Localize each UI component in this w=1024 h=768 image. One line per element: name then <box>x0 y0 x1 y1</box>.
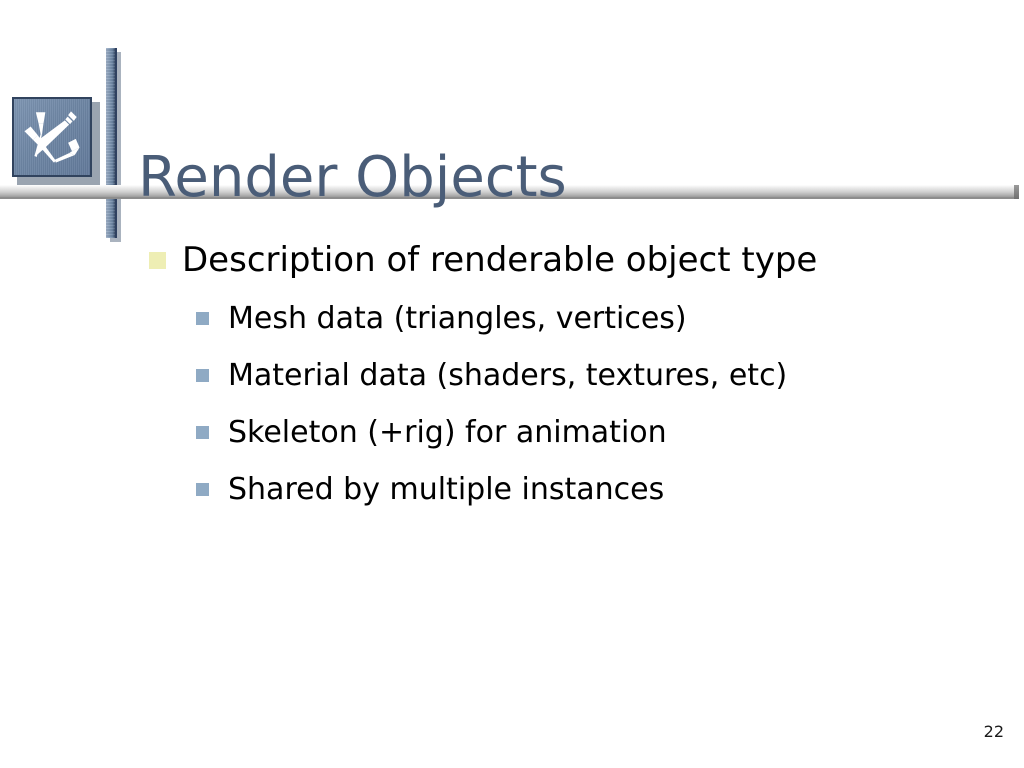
bullet-level1-label: Description of renderable object type <box>182 240 817 280</box>
slide-logo <box>12 97 100 185</box>
slide-title: Render Objects <box>138 146 958 210</box>
vertical-accent-bar <box>106 48 119 240</box>
bullet-level2: Shared by multiple instances <box>0 461 1024 518</box>
page-number: 22 <box>984 722 1004 741</box>
bullet-level1: Description of renderable object type <box>0 236 1024 284</box>
bullet-square-marker-level2 <box>196 369 209 382</box>
bullet-level2: Mesh data (triangles, vertices) <box>0 290 1024 347</box>
bullet-level2: Material data (shaders, textures, etc) <box>0 347 1024 404</box>
bullet-level2-label: Material data (shaders, textures, etc) <box>228 358 787 393</box>
bullet-square-marker-level2 <box>196 426 209 439</box>
vertical-accent-bar-body <box>106 48 117 238</box>
slide-canvas: Render Objects Description of renderable… <box>0 0 1024 768</box>
bullet-square-marker-level2 <box>196 312 209 325</box>
bullet-square-marker-level1 <box>149 252 166 269</box>
paintbrush-tools-emblem-icon <box>12 97 92 177</box>
bullet-level2: Skeleton (+rig) for animation <box>0 404 1024 461</box>
bullet-square-marker-level2 <box>196 483 209 496</box>
header-divider-endcap <box>1014 185 1019 199</box>
slide-body: Description of renderable object type Me… <box>0 236 1024 518</box>
bullet-level2-label: Mesh data (triangles, vertices) <box>228 301 687 336</box>
bullet-level2-label: Skeleton (+rig) for animation <box>228 415 667 450</box>
bullet-level2-label: Shared by multiple instances <box>228 472 664 507</box>
